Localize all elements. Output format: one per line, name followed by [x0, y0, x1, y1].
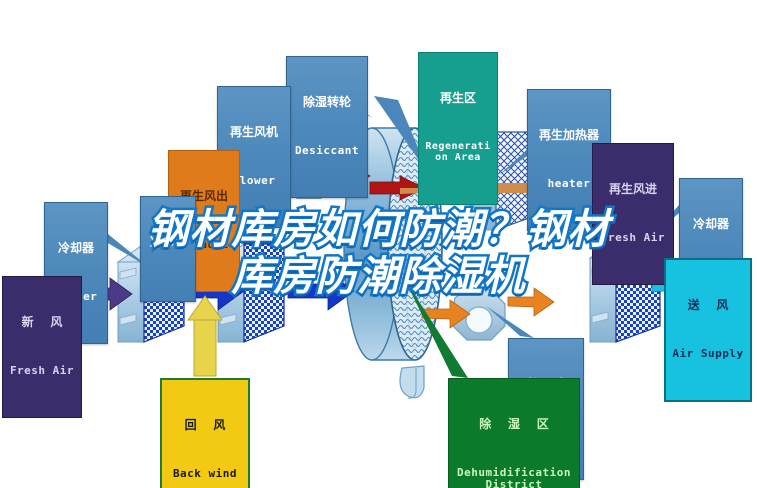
- label-regen-blower-cn: 再生风机: [220, 126, 288, 139]
- label-fresh-air-en: Fresh Air: [5, 365, 79, 377]
- label-regen-area[interactable]: 再生区 Regenerati on Area: [418, 52, 498, 205]
- diagram-canvas: XT: [0, 0, 757, 488]
- label-back-wind-cn: 回 风: [164, 419, 246, 432]
- label-regen-fresh-air-en: Fresh Air: [595, 232, 671, 244]
- label-desiccant-wheel-en: Desiccant: [289, 145, 365, 157]
- label-regen-area-cn: 再生区: [421, 92, 495, 105]
- label-back-wind[interactable]: 回 风 Back wind: [160, 378, 250, 488]
- back-wind-arrow: [188, 296, 222, 376]
- label-cooler-mid-cn: 冷却器: [143, 236, 193, 249]
- label-dehum-district-cn: 除 湿 区: [451, 418, 577, 431]
- label-regen-area-en: Regenerati on Area: [421, 141, 495, 163]
- label-air-supply-en: Air Supply: [668, 348, 748, 360]
- label-desiccant-wheel-cn: 除湿转轮: [289, 96, 365, 109]
- dry-air-arrow-2: [508, 288, 554, 316]
- label-dehum-district-en: Dehumidification District: [451, 467, 577, 488]
- label-regen-fresh-air[interactable]: 再生风进 Fresh Air: [592, 143, 674, 285]
- label-regen-fresh-air-cn: 再生风进: [595, 183, 671, 196]
- label-air-supply[interactable]: 送 风 Air Supply: [664, 258, 752, 402]
- label-fresh-air[interactable]: 新 风 Fresh Air: [2, 276, 82, 418]
- label-fresh-air-cn: 新 风: [5, 316, 79, 329]
- label-desiccant-wheel[interactable]: 除湿转轮 Desiccant: [286, 56, 368, 198]
- condensate-drain: [400, 366, 424, 398]
- label-regen-heater-cn: 再生加热器: [530, 129, 608, 142]
- label-cooler-mid[interactable]: 冷却器: [140, 196, 196, 302]
- label-back-wind-en: Back wind: [164, 468, 246, 480]
- label-cooler-left-cn: 冷却器: [47, 242, 105, 255]
- label-dehum-district[interactable]: 除 湿 区 Dehumidification District: [448, 378, 580, 488]
- label-air-supply-cn: 送 风: [668, 299, 748, 312]
- process-arrow-2: [288, 272, 354, 310]
- label-cooler-right-cn: 冷却器: [682, 218, 740, 231]
